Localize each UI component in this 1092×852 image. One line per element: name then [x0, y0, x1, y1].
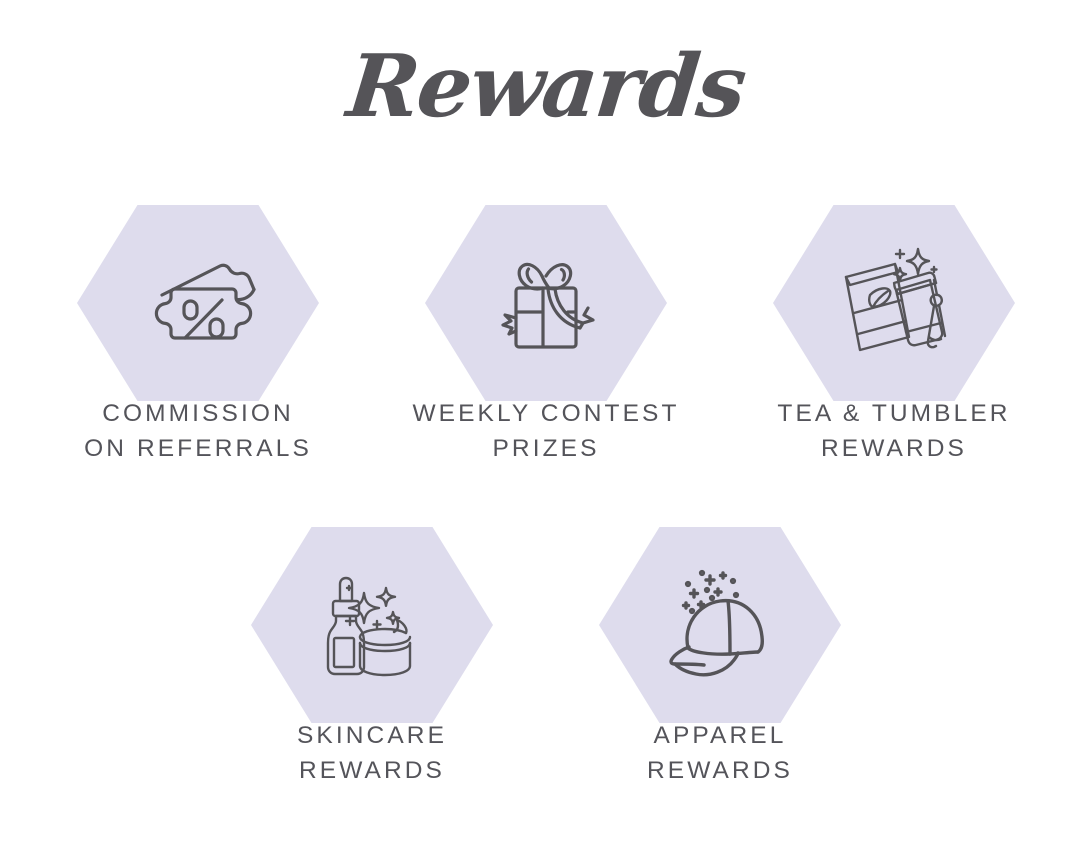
reward-label: APPAREL REWARDS [540, 719, 900, 789]
hexagon-badge [773, 205, 1015, 401]
reward-label: TEA & TUMBLER REWARDS [714, 397, 1074, 467]
rewards-row-1: COMMISSION ON REFERRALS [0, 205, 1092, 467]
reward-tile-skincare-rewards[interactable]: SKINCARE REWARDS [198, 527, 546, 789]
reward-tile-apparel-rewards[interactable]: APPAREL REWARDS [546, 527, 894, 789]
reward-label: COMMISSION ON REFERRALS [18, 397, 378, 467]
serum-bottle-cream-jar-icon [302, 555, 442, 695]
reward-label: SKINCARE REWARDS [192, 719, 552, 789]
gift-box-icon [476, 233, 616, 373]
reward-label: WEEKLY CONTEST PRIZES [366, 397, 726, 467]
reward-tile-tea-and-tumbler-rewards[interactable]: TEA & TUMBLER REWARDS [720, 205, 1068, 467]
rewards-row-2: SKINCARE REWARDS [0, 527, 1092, 789]
reward-tile-commission-on-referrals[interactable]: COMMISSION ON REFERRALS [24, 205, 372, 467]
page-title: Rewards [0, 44, 1092, 130]
hexagon-badge [77, 205, 319, 401]
discount-coupon-percent-icon [128, 233, 268, 373]
reward-tile-weekly-contest-prizes[interactable]: WEEKLY CONTEST PRIZES [372, 205, 720, 467]
rewards-page: Rewards [0, 0, 1092, 852]
hexagon-badge [599, 527, 841, 723]
tea-pouch-tumbler-icon [824, 233, 964, 373]
hexagon-badge [251, 527, 493, 723]
baseball-cap-icon [650, 555, 790, 695]
hexagon-badge [425, 205, 667, 401]
